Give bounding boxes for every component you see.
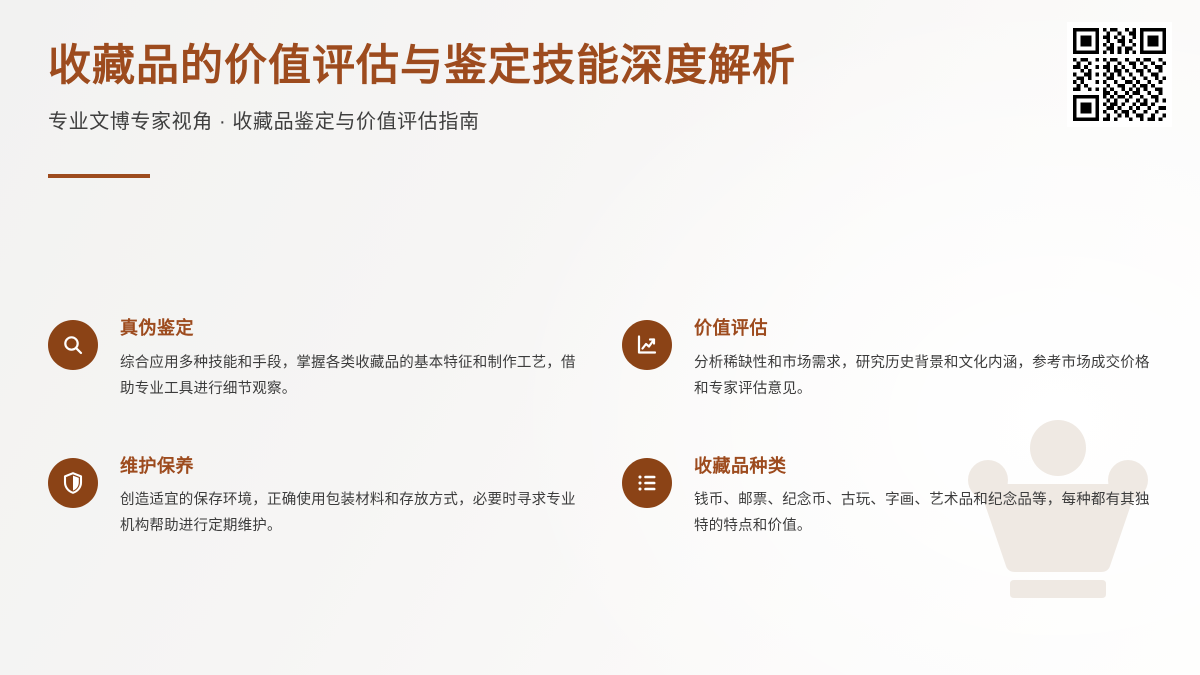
feature-description: 综合应用多种技能和手段，掌握各类收藏品的基本特征和制作工艺，借助专业工具进行细节…	[120, 350, 578, 402]
page-title: 收藏品的价值评估与鉴定技能深度解析	[48, 42, 1028, 93]
list-icon	[622, 458, 672, 508]
feature-item-maintenance: 维护保养 创造适宜的保存环境，正确使用包装材料和存放方式，必要时寻求专业机构帮助…	[48, 456, 578, 540]
feature-title: 收藏品种类	[694, 456, 1152, 478]
feature-item-categories: 收藏品种类 钱币、邮票、纪念币、古玩、字画、艺术品和纪念品等，每种都有其独特的特…	[622, 456, 1152, 540]
search-icon	[48, 320, 98, 370]
page-subtitle: 专业文博专家视角 · 收藏品鉴定与价值评估指南	[48, 109, 1028, 135]
feature-title: 真伪鉴定	[120, 318, 578, 340]
feature-title: 价值评估	[694, 318, 1152, 340]
line-chart-icon	[622, 320, 672, 370]
features-grid: 真伪鉴定 综合应用多种技能和手段，掌握各类收藏品的基本特征和制作工艺，借助专业工…	[48, 318, 1152, 539]
qr-code[interactable]	[1067, 22, 1172, 127]
feature-title: 维护保养	[120, 456, 578, 478]
slide-root: 收藏品的价值评估与鉴定技能深度解析 专业文博专家视角 · 收藏品鉴定与价值评估指…	[0, 0, 1200, 675]
feature-item-authentication: 真伪鉴定 综合应用多种技能和手段，掌握各类收藏品的基本特征和制作工艺，借助专业工…	[48, 318, 578, 402]
feature-description: 分析稀缺性和市场需求，研究历史背景和文化内涵，参考市场成交价格和专家评估意见。	[694, 350, 1152, 402]
slide-header: 收藏品的价值评估与鉴定技能深度解析 专业文博专家视角 · 收藏品鉴定与价值评估指…	[48, 42, 1028, 135]
accent-rule	[48, 174, 150, 178]
feature-item-valuation: 价值评估 分析稀缺性和市场需求，研究历史背景和文化内涵，参考市场成交价格和专家评…	[622, 318, 1152, 402]
feature-description: 钱币、邮票、纪念币、古玩、字画、艺术品和纪念品等，每种都有其独特的特点和价值。	[694, 487, 1152, 539]
feature-description: 创造适宜的保存环境，正确使用包装材料和存放方式，必要时寻求专业机构帮助进行定期维…	[120, 487, 578, 539]
shield-icon	[48, 458, 98, 508]
